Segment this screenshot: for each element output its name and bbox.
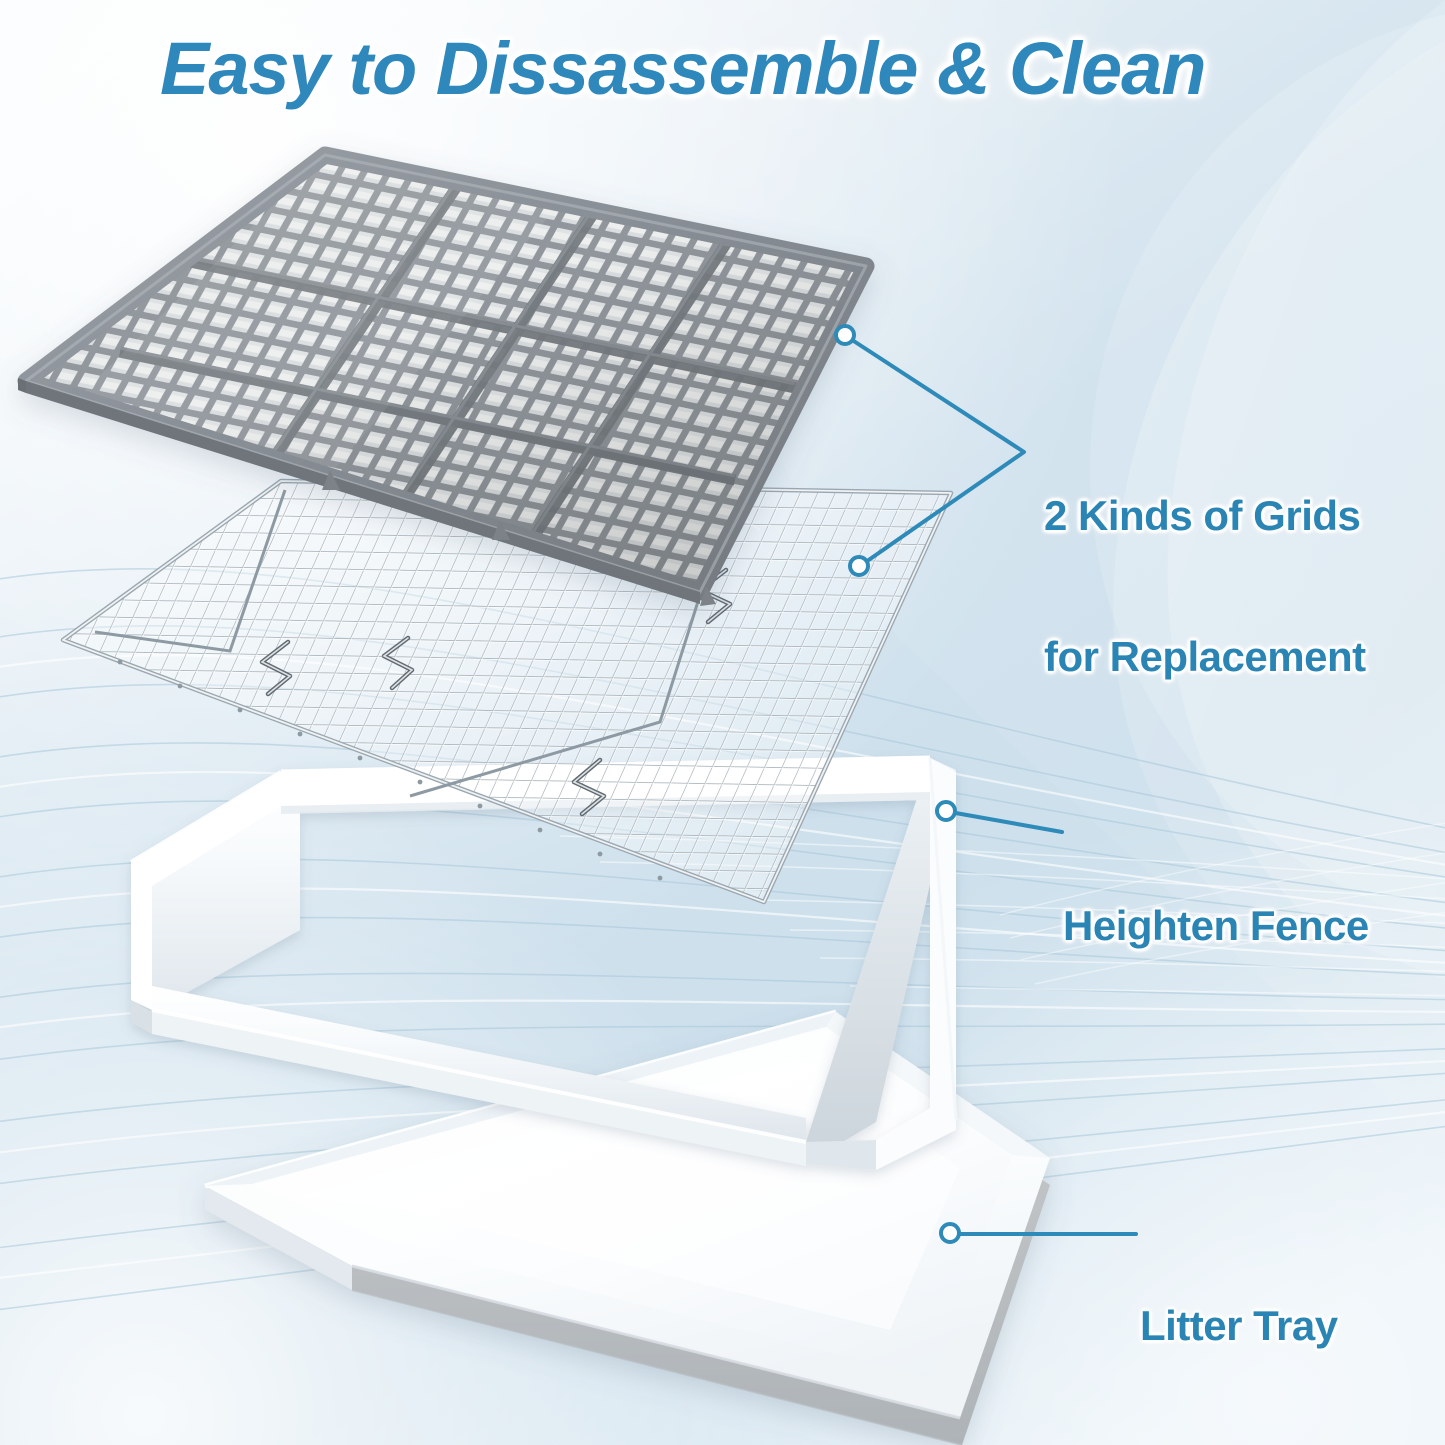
callout-label-grids: 2 Kinds of Grids for Replacement	[1044, 398, 1366, 774]
leader-dot-wire-grid	[850, 557, 868, 575]
callout-label-tray: Litter Tray	[1140, 1208, 1338, 1443]
product-infographic: Easy to Dissassemble & Clean 2 Kinds of …	[0, 0, 1445, 1445]
leader-dot-plastic-grid	[836, 326, 854, 344]
page-title: Easy to Dissassemble & Clean	[160, 28, 1206, 111]
leader-dots	[836, 326, 959, 1242]
callout-grids-line2: for Replacement	[1044, 633, 1366, 680]
leader-dot-fence	[937, 802, 955, 820]
leader-grids	[846, 336, 1024, 566]
callout-grids-line1: 2 Kinds of Grids	[1044, 492, 1366, 539]
callout-fence-line1: Heighten Fence	[1063, 902, 1369, 949]
leader-fence	[950, 812, 1062, 832]
leader-dot-tray	[941, 1224, 959, 1242]
callout-tray-line1: Litter Tray	[1140, 1302, 1338, 1349]
callout-label-fence: Heighten Fence	[1063, 808, 1369, 1043]
